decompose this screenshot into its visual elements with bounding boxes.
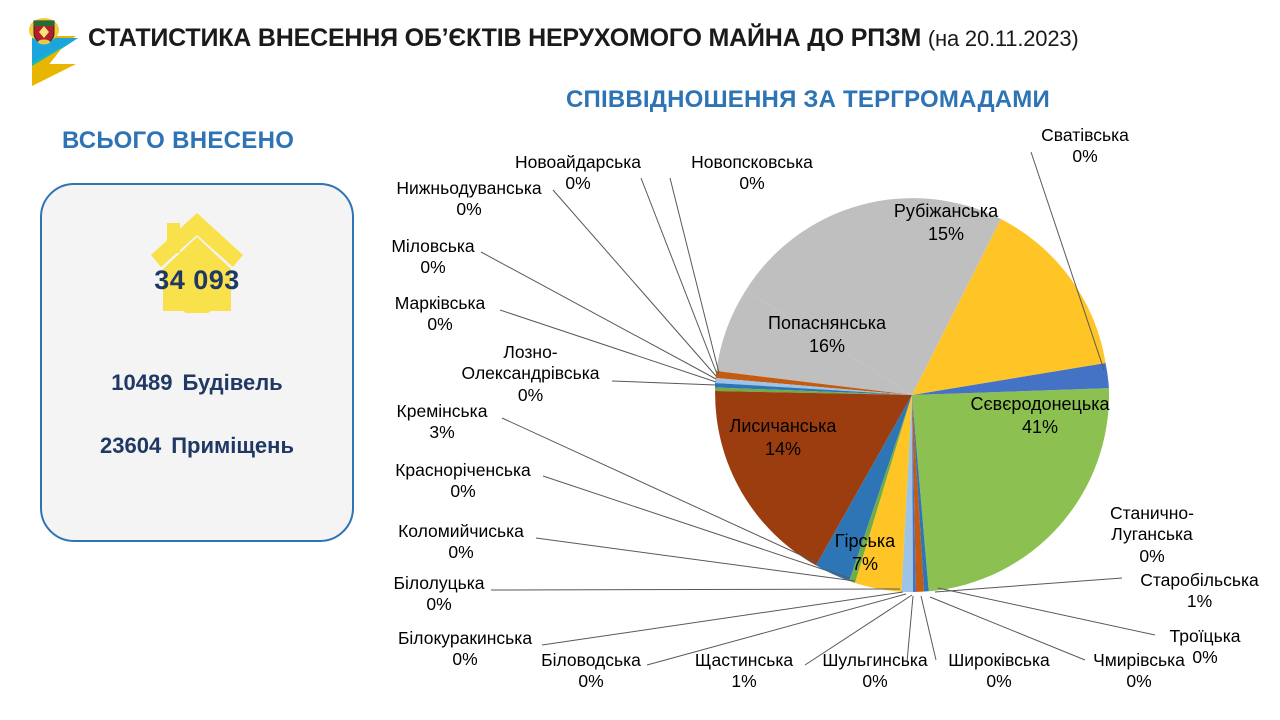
pie-label-shchastynska: Щастинська 1% [681,650,807,693]
pie-inner-label-hirska: Гірська 7% [775,530,955,575]
pie-label-bilovodska: Біловодська 0% [527,650,655,693]
pie-label-shyrokivska: Широківська 0% [936,650,1062,693]
pie-label-novoaidarska: Новоайдарська 0% [503,152,653,195]
pie-label-bilokurakynska: Білокуракинська 0% [385,628,545,671]
pie-label-bilolutska: Білолуцька 0% [385,573,493,616]
pie-label-shulhynska: Шульгинська 0% [809,650,941,693]
pie-label-svativska: Сватівська 0% [1020,125,1150,168]
pie-label-stanychno-luhanska: Станично-Луганська 0% [1092,503,1212,567]
pie-inner-label-lysychanska: Лисичанська 14% [678,415,888,460]
pie-label-kolomyichyska: Коломийчиська 0% [385,521,537,564]
pie-label-kreminska: Кремінська 3% [382,401,502,444]
pie-label-troitska: Троїцька 0% [1153,626,1257,669]
pie-label-novopskovska: Новопсковська 0% [676,152,828,195]
pie-label-milovska: Міловська 0% [385,236,481,279]
pie-inner-label-sieverodonetska: Сєвєродонецька 41% [930,393,1150,438]
pie-label-lozno-oleksandrivska: Лозно-Олександрівська 0% [448,342,613,406]
pie-label-starobilska: Старобільська 1% [1122,570,1277,613]
pie-inner-label-rubizhanska: Рубіжанська 15% [841,200,1051,245]
pie-label-markivska: Марківська 0% [385,293,495,336]
pie-chart [0,0,1280,720]
pie-label-krasnorichenska: Красноріченська 0% [383,460,543,503]
pie-inner-label-popasnianska: Попаснянська 16% [722,312,932,357]
